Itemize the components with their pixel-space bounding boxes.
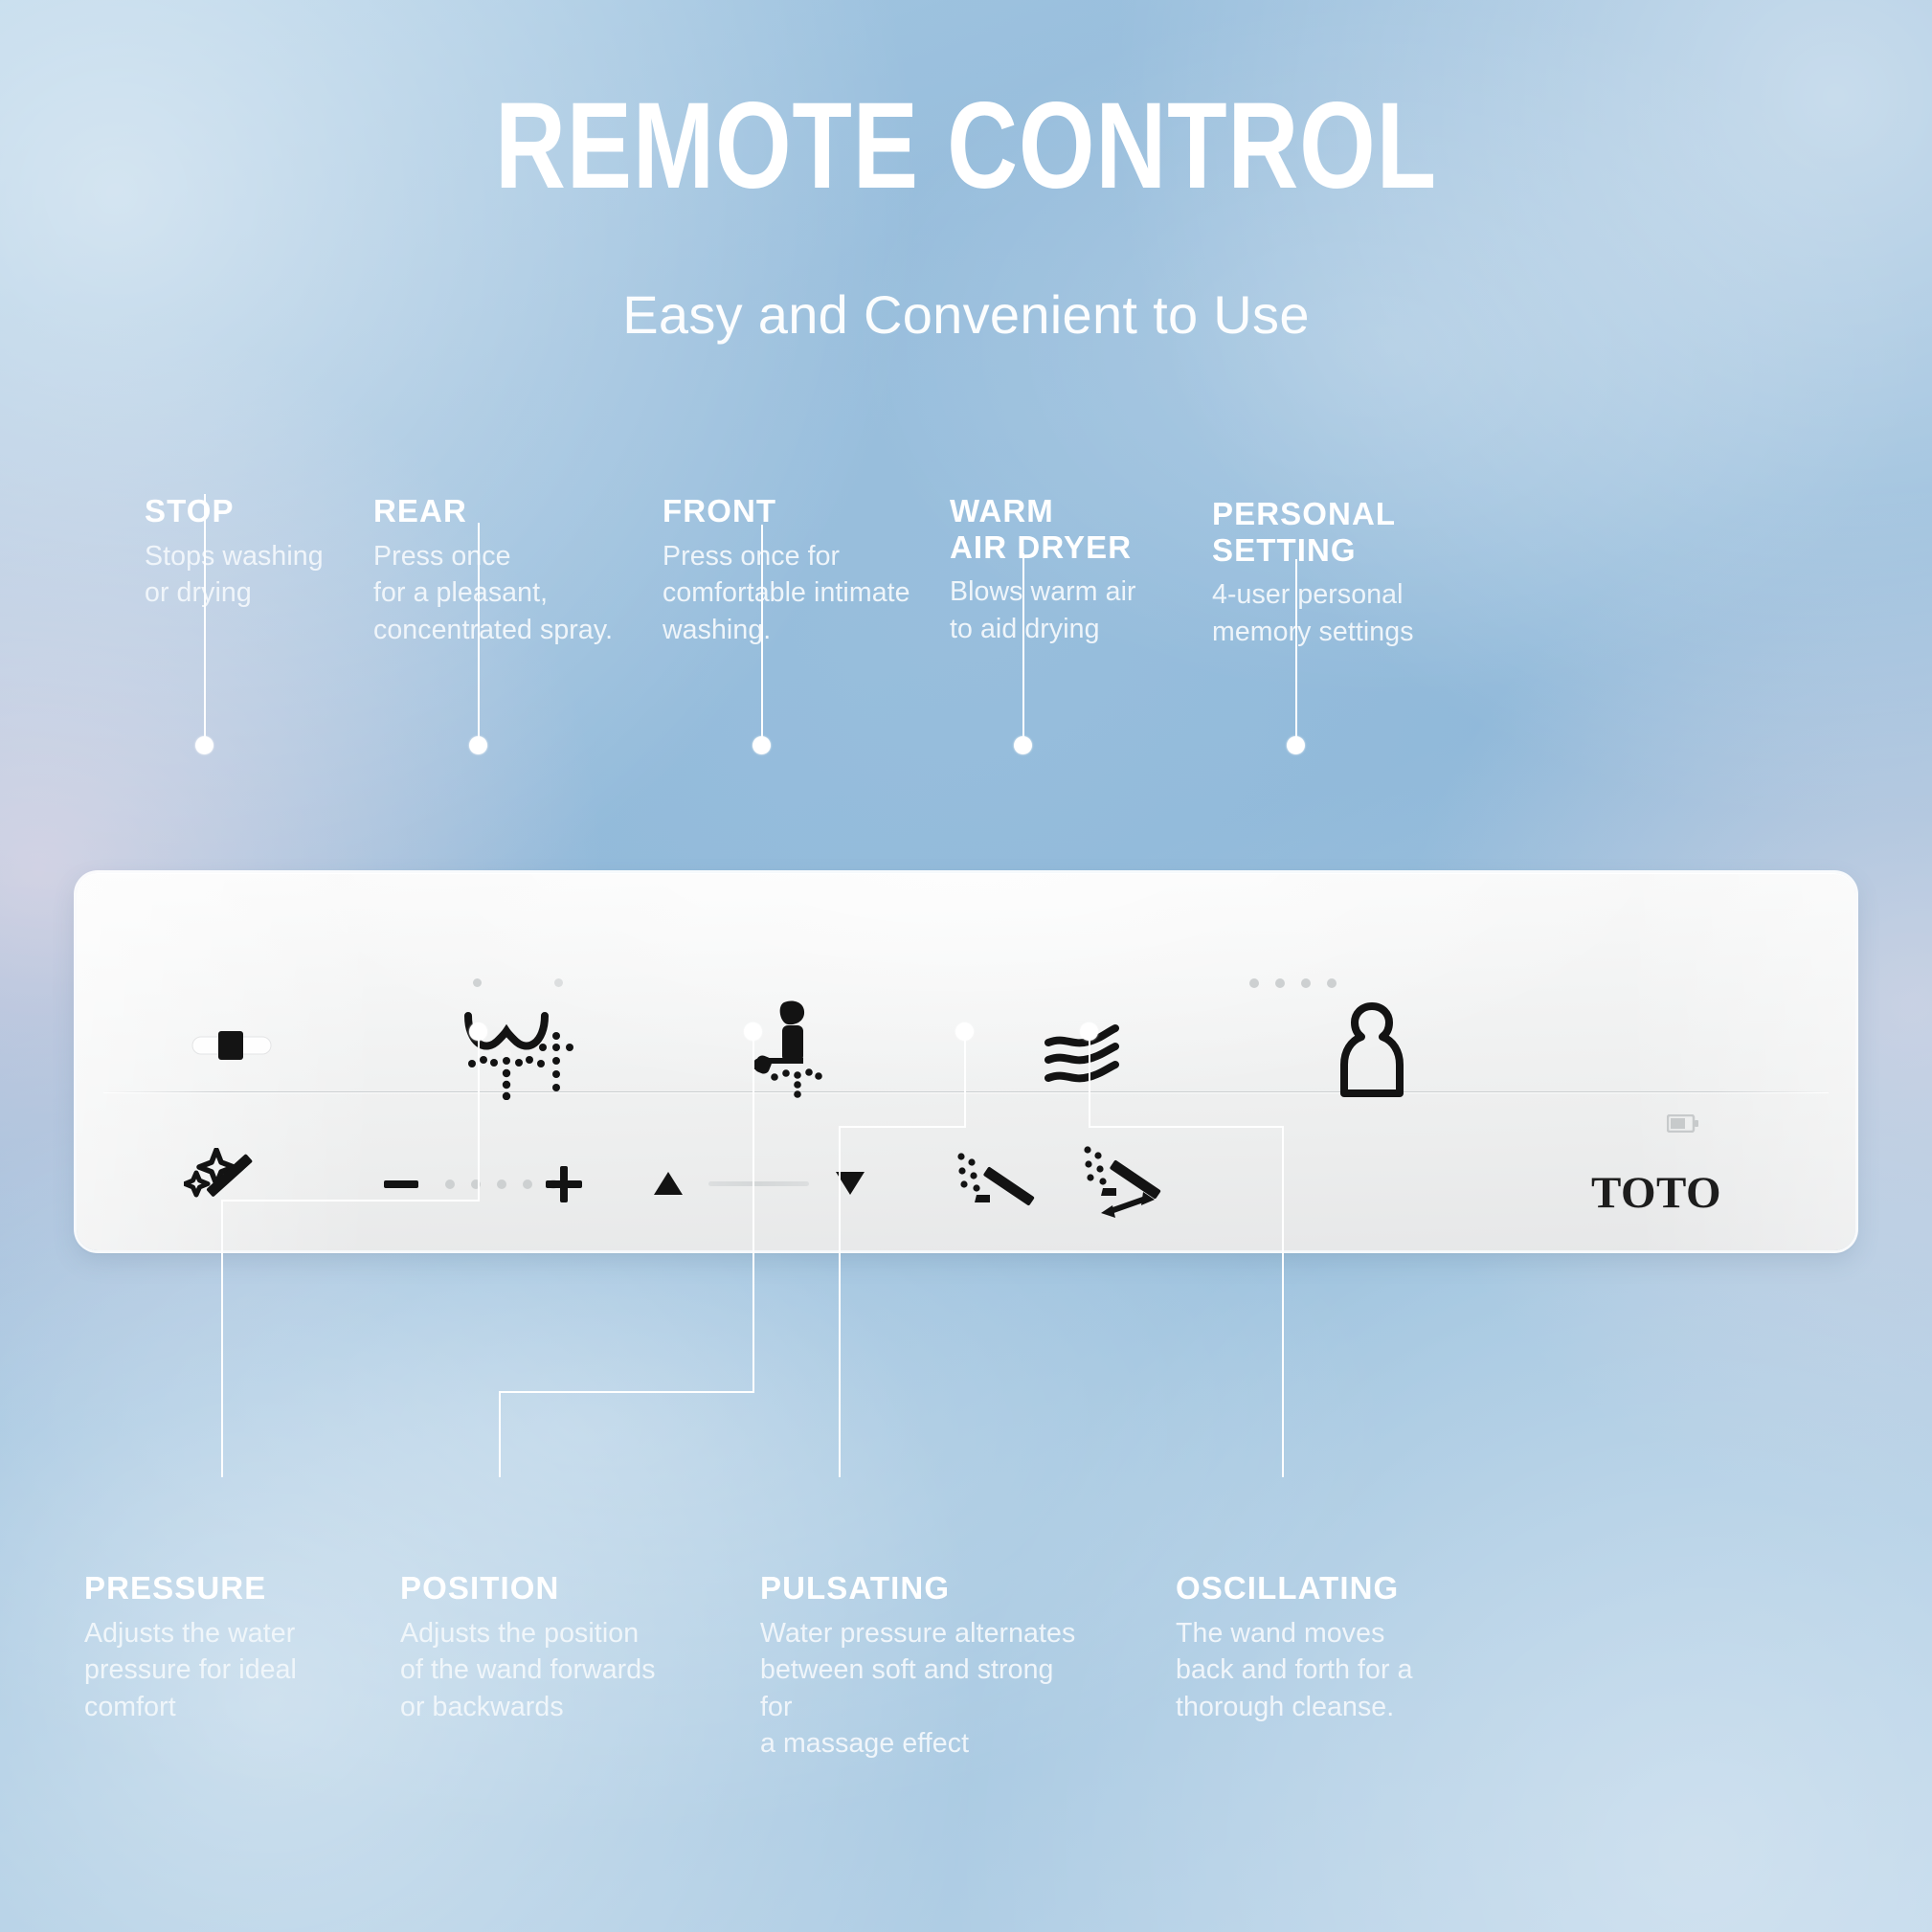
personal-setting-indicator-lights <box>1249 978 1337 988</box>
callout-pulsating-body: Water pressure alternates between soft a… <box>760 1615 1086 1763</box>
callout-warm-air-dryer-heading: WARM AIR DRYER <box>950 493 1194 565</box>
callout-warm-air-dryer: WARM AIR DRYER Blows warm air to aid dry… <box>950 493 1194 647</box>
rear-soft-indicator-light <box>554 978 563 987</box>
personal-setting-button[interactable] <box>1321 998 1423 1103</box>
callout-pressure-body: Adjusts the water pressure for ideal com… <box>84 1615 333 1725</box>
stop-button-icon <box>191 1029 272 1062</box>
callout-stop-body: Stops washing or drying <box>145 538 365 612</box>
leader-line-pressure-a <box>478 1032 480 1200</box>
brand-logo: TOTO <box>1591 1167 1721 1219</box>
front-wash-button[interactable] <box>739 996 844 1103</box>
leader-dot-rear <box>469 736 487 754</box>
rear-indicator-light <box>473 978 482 987</box>
leader-line-position-a <box>753 1032 754 1391</box>
callout-position: POSITION Adjusts the position of the wan… <box>400 1570 678 1725</box>
leader-line-pulsating-a <box>964 1032 966 1126</box>
callout-rear: REAR Press once for a pleasant, concentr… <box>373 493 622 648</box>
callout-front-body: Press once for comfortable intimate wash… <box>663 538 955 648</box>
leader-line-position-b <box>499 1391 754 1393</box>
callout-pulsating-heading: PULSATING <box>760 1570 1086 1606</box>
callout-stop: STOP Stops washing or drying <box>145 493 365 612</box>
leader-line-oscillating-a <box>1089 1032 1090 1126</box>
stop-button[interactable] <box>174 1012 289 1079</box>
leader-dot-stop <box>195 736 213 754</box>
pressure-increase-button[interactable] <box>536 1158 592 1210</box>
leader-line-front <box>761 525 763 747</box>
callout-position-body: Adjusts the position of the wand forward… <box>400 1615 678 1725</box>
leader-line-stop <box>204 494 206 747</box>
leader-line-position-c <box>499 1391 501 1477</box>
callout-pressure-heading: PRESSURE <box>84 1570 333 1606</box>
callout-pressure: PRESSURE Adjusts the water pressure for … <box>84 1570 333 1725</box>
callout-oscillating: OSCILLATING The wand moves back and fort… <box>1176 1570 1463 1725</box>
front-wash-icon <box>744 997 840 1102</box>
callout-stop-heading: STOP <box>145 493 365 529</box>
leader-dot-personal <box>1287 736 1305 754</box>
rear-soft-wash-button[interactable] <box>534 1028 578 1101</box>
rear-soft-wash-icon <box>536 1031 576 1098</box>
callout-pulsating: PULSATING Water pressure alternates betw… <box>760 1570 1086 1762</box>
triangle-up-icon <box>652 1169 685 1198</box>
page-title: REMOTE CONTROL <box>193 82 1739 211</box>
callout-front-heading: FRONT <box>663 493 955 529</box>
leader-line-pulsating-c <box>839 1126 841 1477</box>
callout-position-heading: POSITION <box>400 1570 678 1606</box>
pulsating-wand-icon <box>957 1153 1040 1216</box>
leader-line-oscillating-c <box>1282 1126 1284 1477</box>
leader-line-dryer <box>1022 553 1024 747</box>
minus-icon <box>382 1165 420 1203</box>
callout-oscillating-heading: OSCILLATING <box>1176 1570 1463 1606</box>
callout-personal-setting-body: 4-user personal memory settings <box>1212 576 1451 650</box>
oscillating-wand-arrow-icon <box>1084 1146 1172 1224</box>
leader-line-personal <box>1295 559 1297 747</box>
oscillating-button[interactable] <box>1072 1139 1183 1231</box>
leader-line-pressure-b <box>221 1200 480 1202</box>
leader-line-oscillating-b <box>1089 1126 1284 1128</box>
pulsating-button[interactable] <box>946 1143 1051 1225</box>
leader-line-pressure-c <box>221 1200 223 1477</box>
callout-personal-setting: PERSONAL SETTING 4-user personal memory … <box>1212 496 1451 650</box>
leader-line-rear <box>478 523 480 747</box>
position-up-button[interactable] <box>643 1160 693 1206</box>
leader-line-pulsating-b <box>839 1126 966 1128</box>
callout-warm-air-dryer-body: Blows warm air to aid drying <box>950 573 1194 647</box>
position-down-button[interactable] <box>825 1160 875 1206</box>
personal-setting-icon <box>1337 1001 1406 1099</box>
leader-dot-front <box>753 736 771 754</box>
callout-oscillating-body: The wand moves back and forth for a thor… <box>1176 1615 1463 1725</box>
callout-personal-setting-heading: PERSONAL SETTING <box>1212 496 1451 568</box>
position-slider-track[interactable] <box>708 1181 809 1186</box>
plus-icon <box>544 1164 584 1204</box>
callout-rear-body: Press once for a pleasant, concentrated … <box>373 538 622 648</box>
battery-indicator-icon <box>1667 1114 1699 1133</box>
leader-dot-dryer <box>1014 736 1032 754</box>
callout-front: FRONT Press once for comfortable intimat… <box>663 493 955 648</box>
callout-rear-heading: REAR <box>373 493 622 529</box>
page-subtitle: Easy and Convenient to Use <box>0 283 1932 346</box>
